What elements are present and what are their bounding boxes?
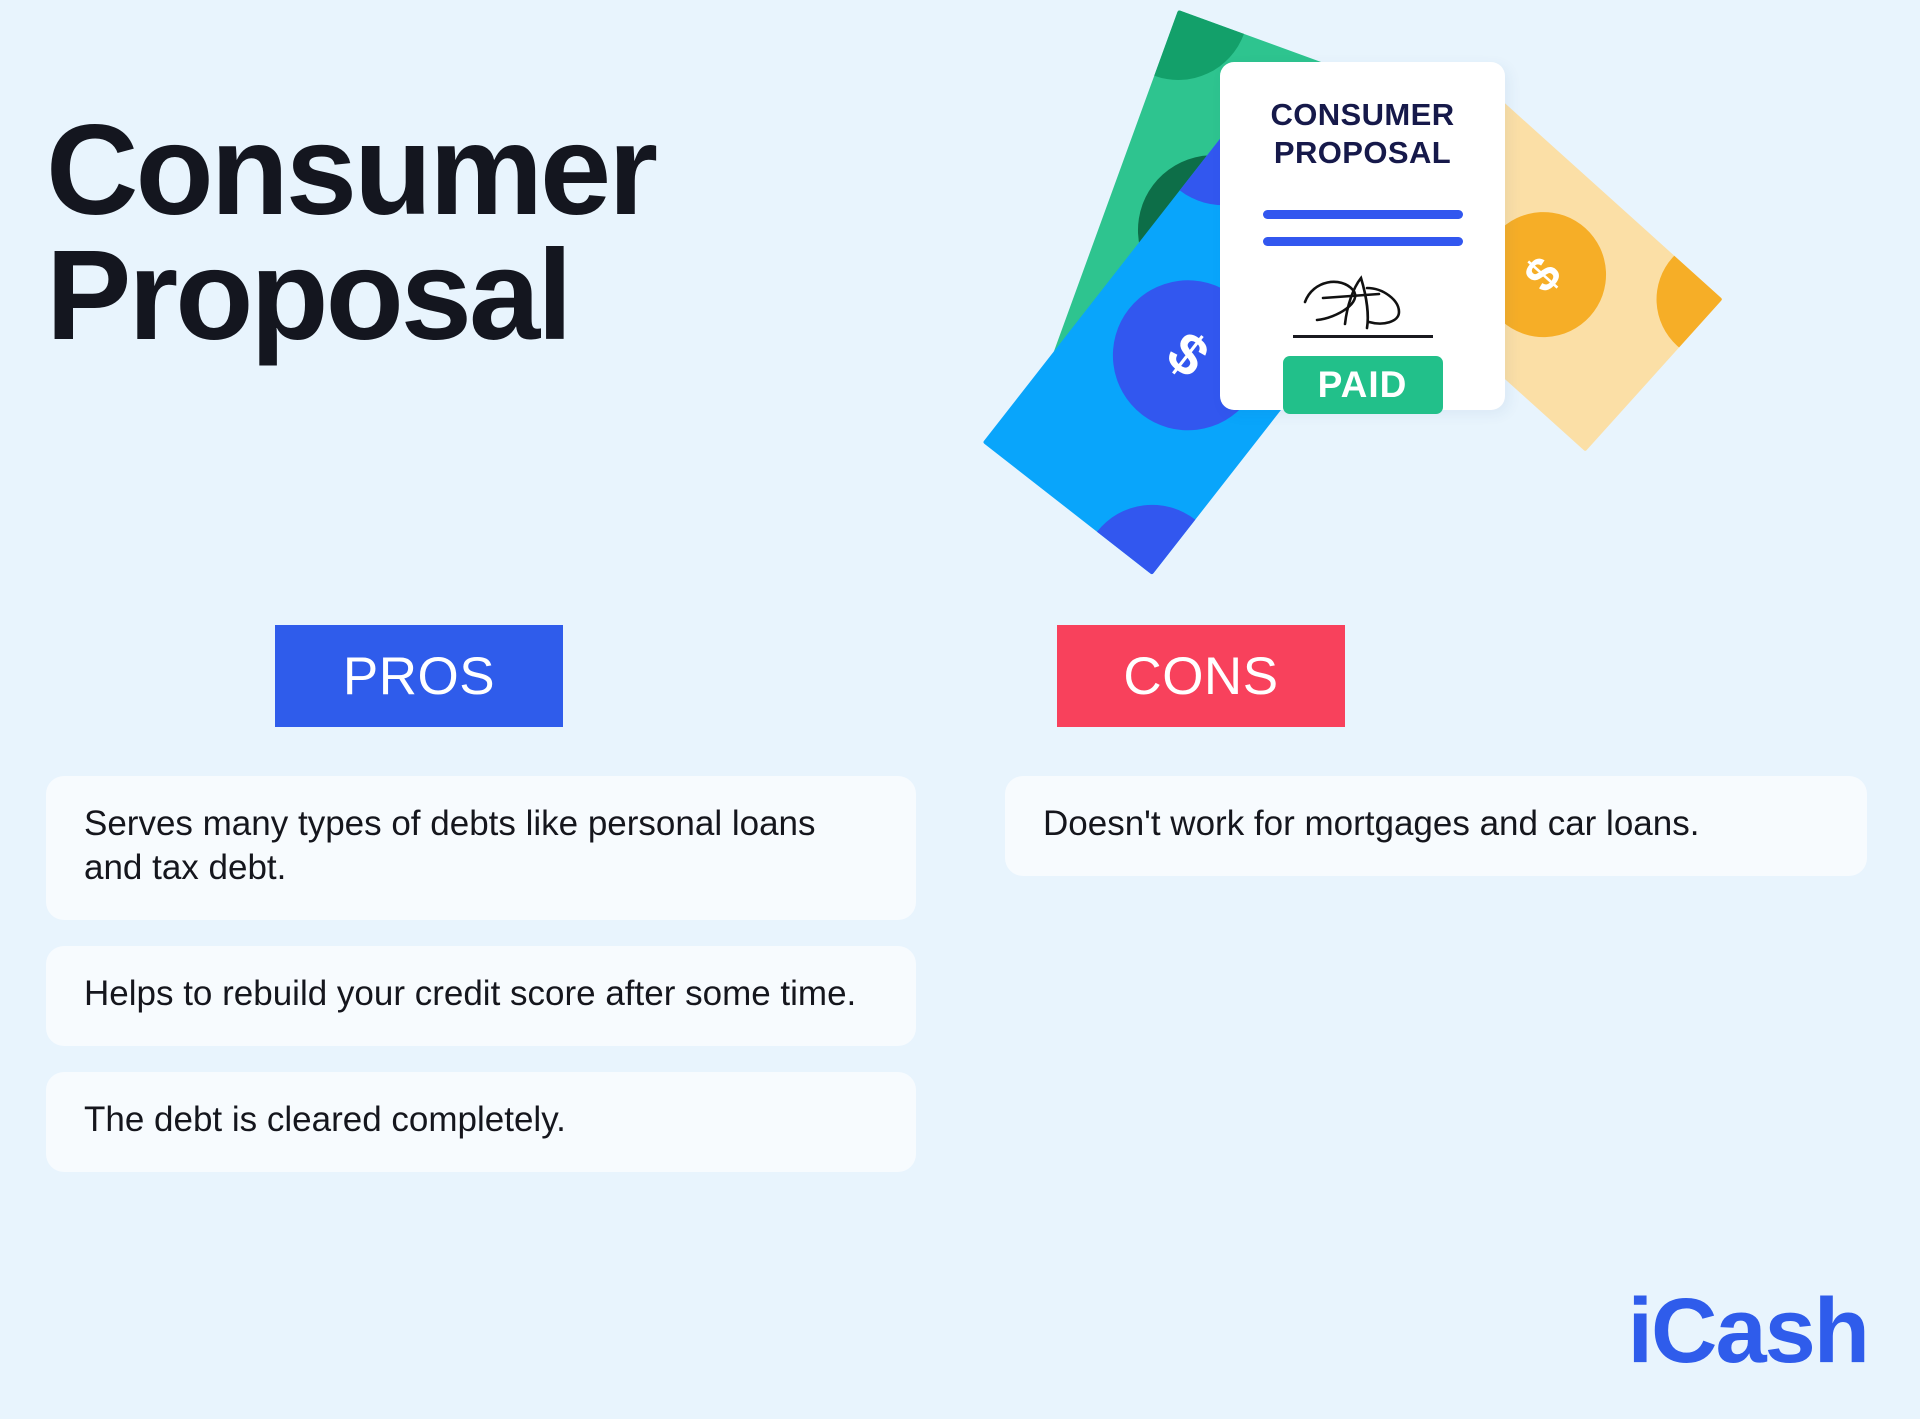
paid-stamp: PAID	[1283, 356, 1443, 414]
pros-column: PROS Serves many types of debts like per…	[46, 625, 916, 1198]
dollar-symbol-icon: $	[1516, 249, 1570, 301]
consumer-proposal-document: CONSUMER PROPOSAL PAID	[1220, 62, 1505, 410]
consumer-proposal-illustration: $ $ $ CONSUMER PROPOSAL	[1140, 30, 1560, 450]
dollar-symbol-icon: $	[1157, 322, 1218, 388]
list-item: Helps to rebuild your credit score after…	[46, 946, 916, 1046]
cons-badge: CONS	[1057, 625, 1345, 727]
document-rule-line	[1263, 210, 1463, 219]
signature-scribble-icon	[1283, 272, 1443, 334]
document-rule-line	[1263, 237, 1463, 246]
icash-logo: iCash	[1627, 1285, 1868, 1377]
cons-column: CONS Doesn't work for mortgages and car …	[1005, 625, 1867, 902]
cons-list: Doesn't work for mortgages and car loans…	[1005, 776, 1867, 876]
pros-badge: PROS	[275, 625, 563, 727]
signature-underline	[1293, 335, 1433, 338]
list-item: The debt is cleared completely.	[46, 1072, 916, 1172]
bill-corner-accent	[1631, 211, 1723, 388]
list-item: Doesn't work for mortgages and car loans…	[1005, 776, 1867, 876]
document-title: CONSUMER PROPOSAL	[1220, 96, 1505, 172]
bill-corner-accent	[1054, 477, 1251, 575]
page-title: Consumer Proposal	[46, 108, 846, 359]
signature-area	[1220, 272, 1505, 338]
pros-list: Serves many types of debts like personal…	[46, 776, 916, 1172]
list-item: Serves many types of debts like personal…	[46, 776, 916, 920]
